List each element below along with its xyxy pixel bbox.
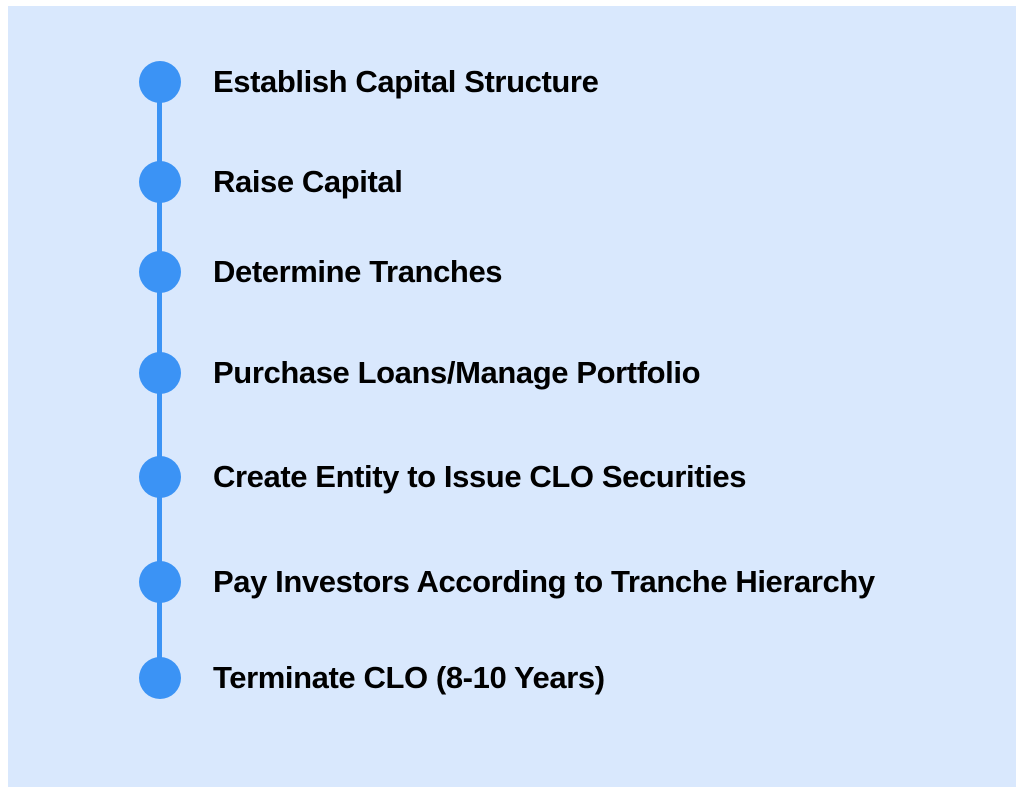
timeline-step-label: Determine Tranches: [213, 250, 502, 294]
timeline-step-label: Pay Investors According to Tranche Hiera…: [213, 560, 875, 604]
timeline-step[interactable]: Purchase Loans/Manage Portfolio: [8, 351, 1016, 395]
timeline-node-dot-icon: [139, 352, 181, 394]
timeline-step-label: Terminate CLO (8-10 Years): [213, 656, 605, 700]
timeline-step[interactable]: Establish Capital Structure: [8, 60, 1016, 104]
timeline-step[interactable]: Determine Tranches: [8, 250, 1016, 294]
timeline-node-dot-icon: [139, 251, 181, 293]
timeline-node-dot-icon: [139, 456, 181, 498]
timeline-step-label: Raise Capital: [213, 160, 403, 204]
timeline-step-label: Establish Capital Structure: [213, 60, 598, 104]
timeline-step-label: Purchase Loans/Manage Portfolio: [213, 351, 700, 395]
timeline-node-dot-icon: [139, 61, 181, 103]
timeline-node-dot-icon: [139, 561, 181, 603]
diagram-canvas: Establish Capital StructureRaise Capital…: [8, 6, 1016, 787]
timeline-node-dot-icon: [139, 161, 181, 203]
timeline-node-dot-icon: [139, 657, 181, 699]
timeline-step[interactable]: Terminate CLO (8-10 Years): [8, 656, 1016, 700]
timeline-step-label: Create Entity to Issue CLO Securities: [213, 455, 746, 499]
timeline-step[interactable]: Pay Investors According to Tranche Hiera…: [8, 560, 1016, 604]
timeline-container: Establish Capital StructureRaise Capital…: [8, 6, 1016, 787]
timeline-step[interactable]: Create Entity to Issue CLO Securities: [8, 455, 1016, 499]
timeline-step[interactable]: Raise Capital: [8, 160, 1016, 204]
